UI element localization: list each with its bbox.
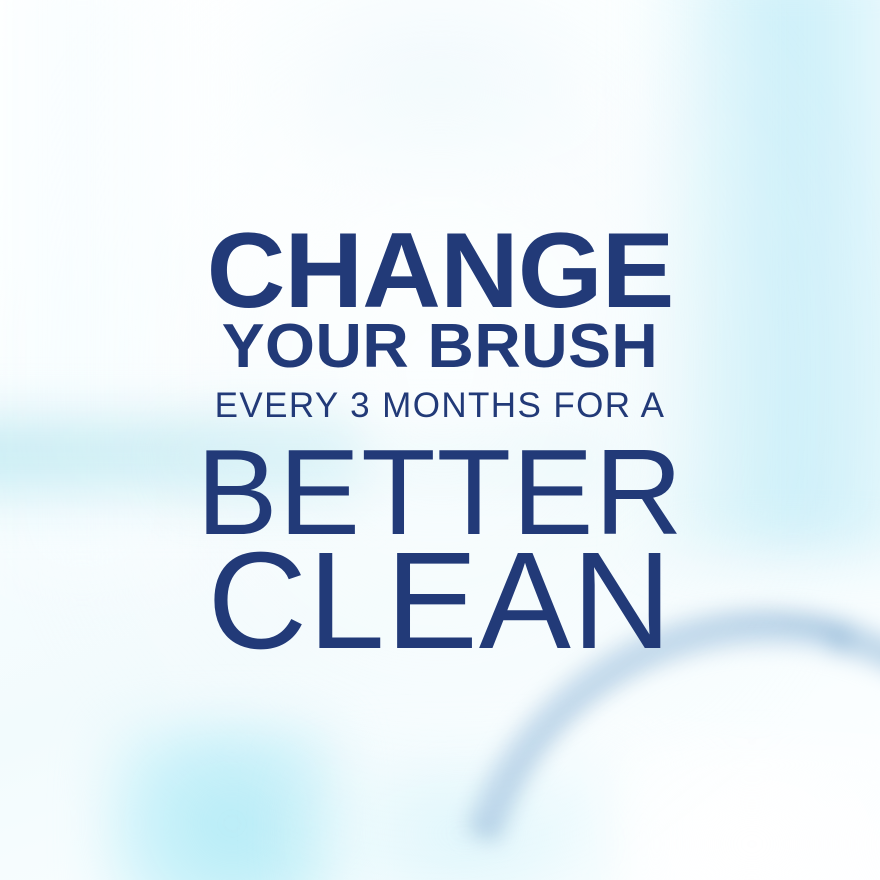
headline-line-change: CHANGE <box>0 217 880 324</box>
headline-line-every-3-months: EVERY 3 MONTHS FOR A <box>0 388 880 423</box>
headline-line-clean: CLEAN <box>0 532 880 670</box>
headline-block: CHANGE YOUR BRUSH EVERY 3 MONTHS FOR A B… <box>0 0 880 880</box>
headline-line-your-brush: YOUR BRUSH <box>0 316 880 378</box>
poster-canvas: CHANGE YOUR BRUSH EVERY 3 MONTHS FOR A B… <box>0 0 880 880</box>
